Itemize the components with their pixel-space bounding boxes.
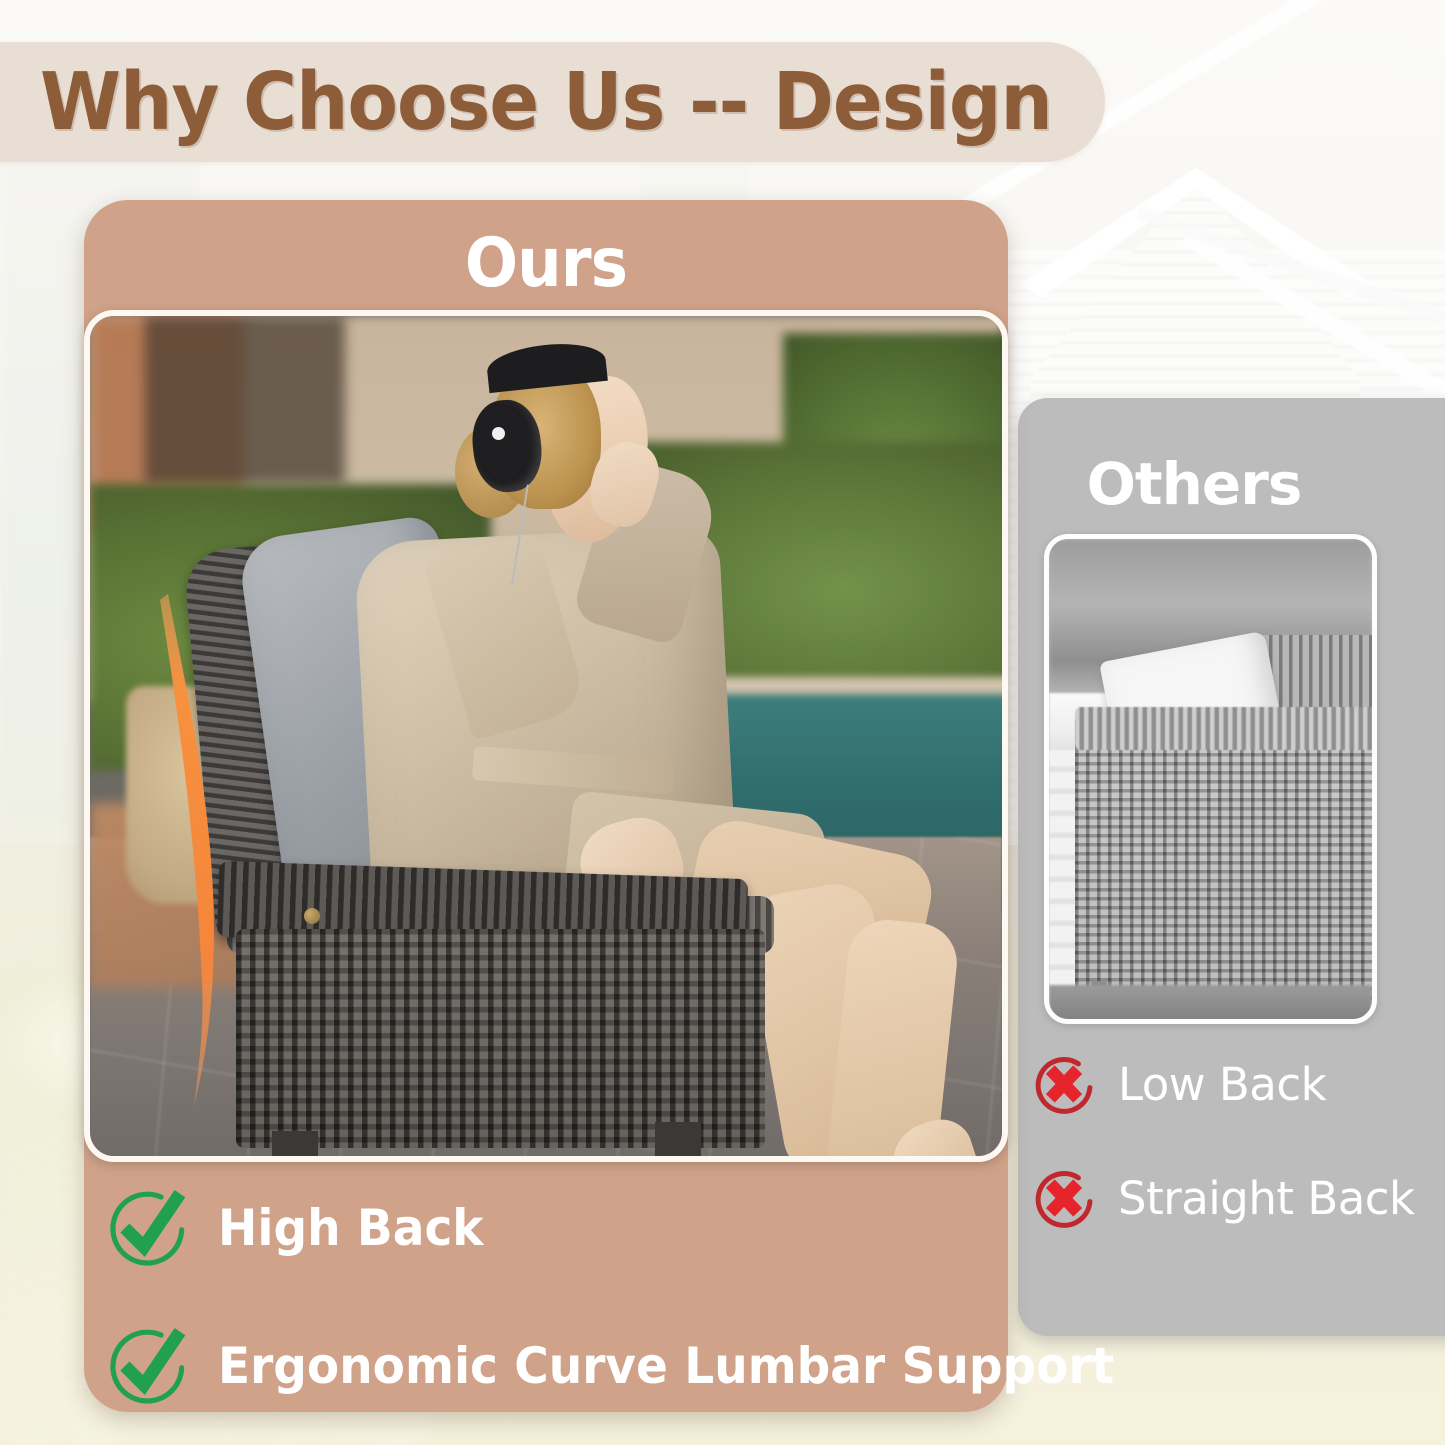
others-photo-ground — [1049, 985, 1372, 1023]
page-title: Why Choose Us -- Design — [13, 56, 1053, 148]
ours-feature-list: High Back Ergonomic Curve Lumbar Support — [106, 1185, 1006, 1445]
infographic-canvas: Others Low Back — [0, 0, 1445, 1445]
others-photo-sofa-arm — [1075, 707, 1377, 750]
others-feature-label: Low Back — [1118, 1058, 1326, 1111]
list-item: Ergonomic Curve Lumbar Support — [106, 1323, 1006, 1409]
photo-chair-leg-front — [272, 1131, 318, 1162]
title-banner: Why Choose Us -- Design — [0, 42, 1105, 162]
list-item: Low Back — [1028, 1048, 1445, 1120]
check-circle-icon — [106, 1323, 192, 1409]
photo-chair-leg-back — [655, 1122, 701, 1162]
ours-feature-label: Ergonomic Curve Lumbar Support — [218, 1337, 1114, 1395]
x-circle-icon — [1028, 1162, 1100, 1234]
headphones-logo-icon — [492, 427, 505, 440]
others-feature-list: Low Back Straight Back — [1028, 1048, 1445, 1276]
photo-wall-dark-panel — [145, 316, 346, 484]
others-panel-title: Others — [1018, 450, 1370, 518]
others-photo-sofa-body — [1075, 717, 1377, 1005]
x-circle-icon — [1028, 1048, 1100, 1120]
list-item: High Back — [106, 1185, 1006, 1271]
ours-product-photo — [84, 310, 1008, 1162]
list-item: Straight Back — [1028, 1162, 1445, 1234]
ours-panel-title: Ours — [121, 224, 971, 303]
check-circle-icon — [106, 1185, 192, 1271]
others-product-photo — [1044, 534, 1377, 1024]
others-feature-label: Straight Back — [1118, 1172, 1415, 1225]
ours-feature-label: High Back — [218, 1199, 484, 1257]
photo-chair-wicker-body — [236, 929, 765, 1147]
